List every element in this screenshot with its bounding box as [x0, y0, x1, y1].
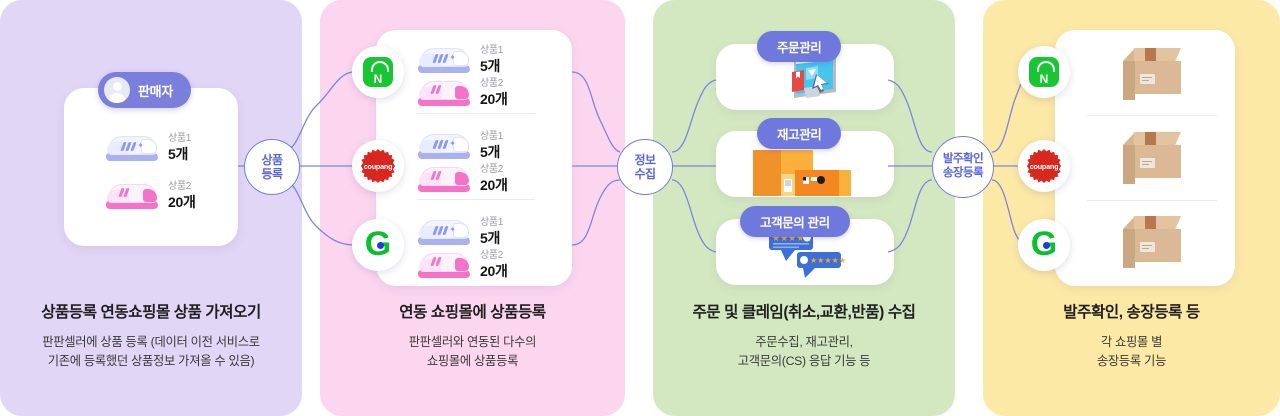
caption-line: 고객문의(CS) 응답 기능 등 [653, 352, 955, 371]
page-title: 연동 쇼핑몰에 상품등록 [320, 300, 625, 322]
caption-line: 판판셀러와 연동된 다수의 [320, 333, 625, 352]
product-qty: 20개 [480, 263, 508, 279]
blue-sneaker-icon: ✦ [418, 129, 470, 159]
mall-badge-naver[interactable]: N [1018, 46, 1070, 98]
caption-line: 판판셀러에 상품 등록 (데이터 이전 서비스로 [0, 333, 302, 352]
product-name: 상품2 [168, 181, 191, 192]
avatar [104, 77, 130, 103]
seller-badge: 판매자 [98, 72, 191, 108]
product-row: ✦ 상품1 5개 [106, 128, 191, 164]
product-qty: 5개 [168, 146, 188, 162]
product-qty: 5개 [480, 230, 500, 246]
panel-caption: 발주확인, 송장등록 등 각 쇼핑몰 별 송장등록 기능 [983, 300, 1280, 371]
mall-badge-coupang[interactable]: coupang [352, 140, 404, 192]
product-qty: 5개 [480, 58, 500, 74]
panel-caption: 연동 쇼핑몰에 상품등록 판판셀러와 연동된 다수의 쇼핑몰에 상품등록 [320, 300, 625, 371]
product-row: 상품2 20개 [418, 159, 508, 195]
product-qty: 20개 [168, 194, 196, 210]
pink-sneaker-icon [418, 76, 470, 106]
blue-sneaker-icon: ✦ [418, 43, 470, 73]
naver-shopping-icon: N [1029, 57, 1059, 87]
mall-badge-coupang[interactable]: coupang [1018, 140, 1070, 192]
tag-stock-management[interactable]: 재고관리 [757, 118, 841, 149]
naver-shopping-icon: N [363, 57, 393, 87]
caption-line: 주문수집, 재고관리, [653, 333, 955, 352]
pink-sneaker-icon [418, 162, 470, 192]
list-divider [1087, 200, 1217, 201]
caption-line: 송장등록 기능 [983, 352, 1280, 371]
page-title: 주문 및 클레임(취소,교환,반품) 수집 [653, 300, 955, 322]
coupang-icon: coupang [361, 149, 395, 183]
blue-sneaker-icon: ✦ [106, 131, 158, 161]
stacked-boxes-illustration [753, 146, 857, 196]
panel-caption: 상품등록 연동쇼핑몰 상품 가져오기 판판셀러에 상품 등록 (데이터 이전 서… [0, 300, 302, 371]
product-row: ✦ 상품1 5개 [418, 212, 503, 248]
product-row: ✦ 상품1 5개 [418, 126, 503, 162]
product-name: 상품1 [480, 131, 503, 142]
connector-line: 등록 [261, 167, 282, 181]
caption-line: 각 쇼핑몰 별 [983, 333, 1280, 352]
caption-line: 쇼핑몰에 상품등록 [320, 352, 625, 371]
tag-cs-management[interactable]: 고객문의 관리 [740, 206, 850, 237]
product-name: 상품1 [168, 133, 191, 144]
flow-diagram: 판매자 ✦ 상품1 5개 상품2 [0, 0, 1280, 416]
seller-product-card [64, 88, 238, 246]
mall-badge-naver[interactable]: N [352, 46, 404, 98]
product-name: 상품1 [480, 217, 503, 228]
product-qty: 20개 [480, 91, 508, 107]
seller-label: 판매자 [138, 81, 173, 100]
blue-sneaker-icon: ✦ [418, 215, 470, 245]
product-row: ✦ 상품1 5개 [418, 40, 503, 76]
panel-caption: 주문 및 클레임(취소,교환,반품) 수집 주문수집, 재고관리, 고객문의(C… [653, 300, 955, 371]
product-name: 상품2 [480, 164, 503, 175]
gmarket-icon: G [1028, 229, 1060, 261]
connector-info-collect[interactable]: 정보 수집 [617, 139, 673, 195]
connector-product-register[interactable]: 상품 등록 [244, 139, 300, 195]
product-row: 상품2 20개 [418, 73, 508, 109]
svg-text:★★★★★: ★★★★★ [810, 256, 846, 265]
page-title: 상품등록 연동쇼핑몰 상품 가져오기 [0, 300, 302, 322]
product-qty: 20개 [480, 177, 508, 193]
connector-line: 송장등록 [943, 167, 983, 181]
panel-product-register: 판매자 ✦ 상품1 5개 상품2 [0, 0, 302, 416]
list-divider [417, 113, 535, 114]
pink-sneaker-icon [106, 179, 158, 209]
coupang-icon: coupang [1027, 149, 1061, 183]
connector-order-shipping[interactable]: 발주확인 송장등록 [932, 136, 994, 198]
product-row: 상품2 20개 [418, 245, 508, 281]
caption-line: 기존에 등록했던 상품정보 가져올 수 있음) [0, 352, 302, 371]
product-qty: 5개 [480, 144, 500, 160]
connector-line: 수집 [634, 167, 655, 181]
connector-line: 발주확인 [943, 153, 983, 167]
pink-sneaker-icon [418, 248, 470, 278]
product-name: 상품2 [480, 78, 503, 89]
connector-line: 정보 [634, 153, 655, 167]
mall-badge-gmarket[interactable]: G [352, 219, 404, 271]
mall-badge-gmarket[interactable]: G [1018, 219, 1070, 271]
tag-order-management[interactable]: 주문관리 [757, 31, 841, 62]
connector-line: 상품 [261, 153, 282, 167]
product-name: 상품2 [480, 250, 503, 261]
list-divider [417, 199, 535, 200]
page-title: 발주확인, 송장등록 등 [983, 300, 1280, 322]
list-divider [1087, 115, 1217, 116]
product-row: 상품2 20개 [106, 176, 196, 212]
product-name: 상품1 [480, 45, 503, 56]
gmarket-icon: G [362, 229, 394, 261]
